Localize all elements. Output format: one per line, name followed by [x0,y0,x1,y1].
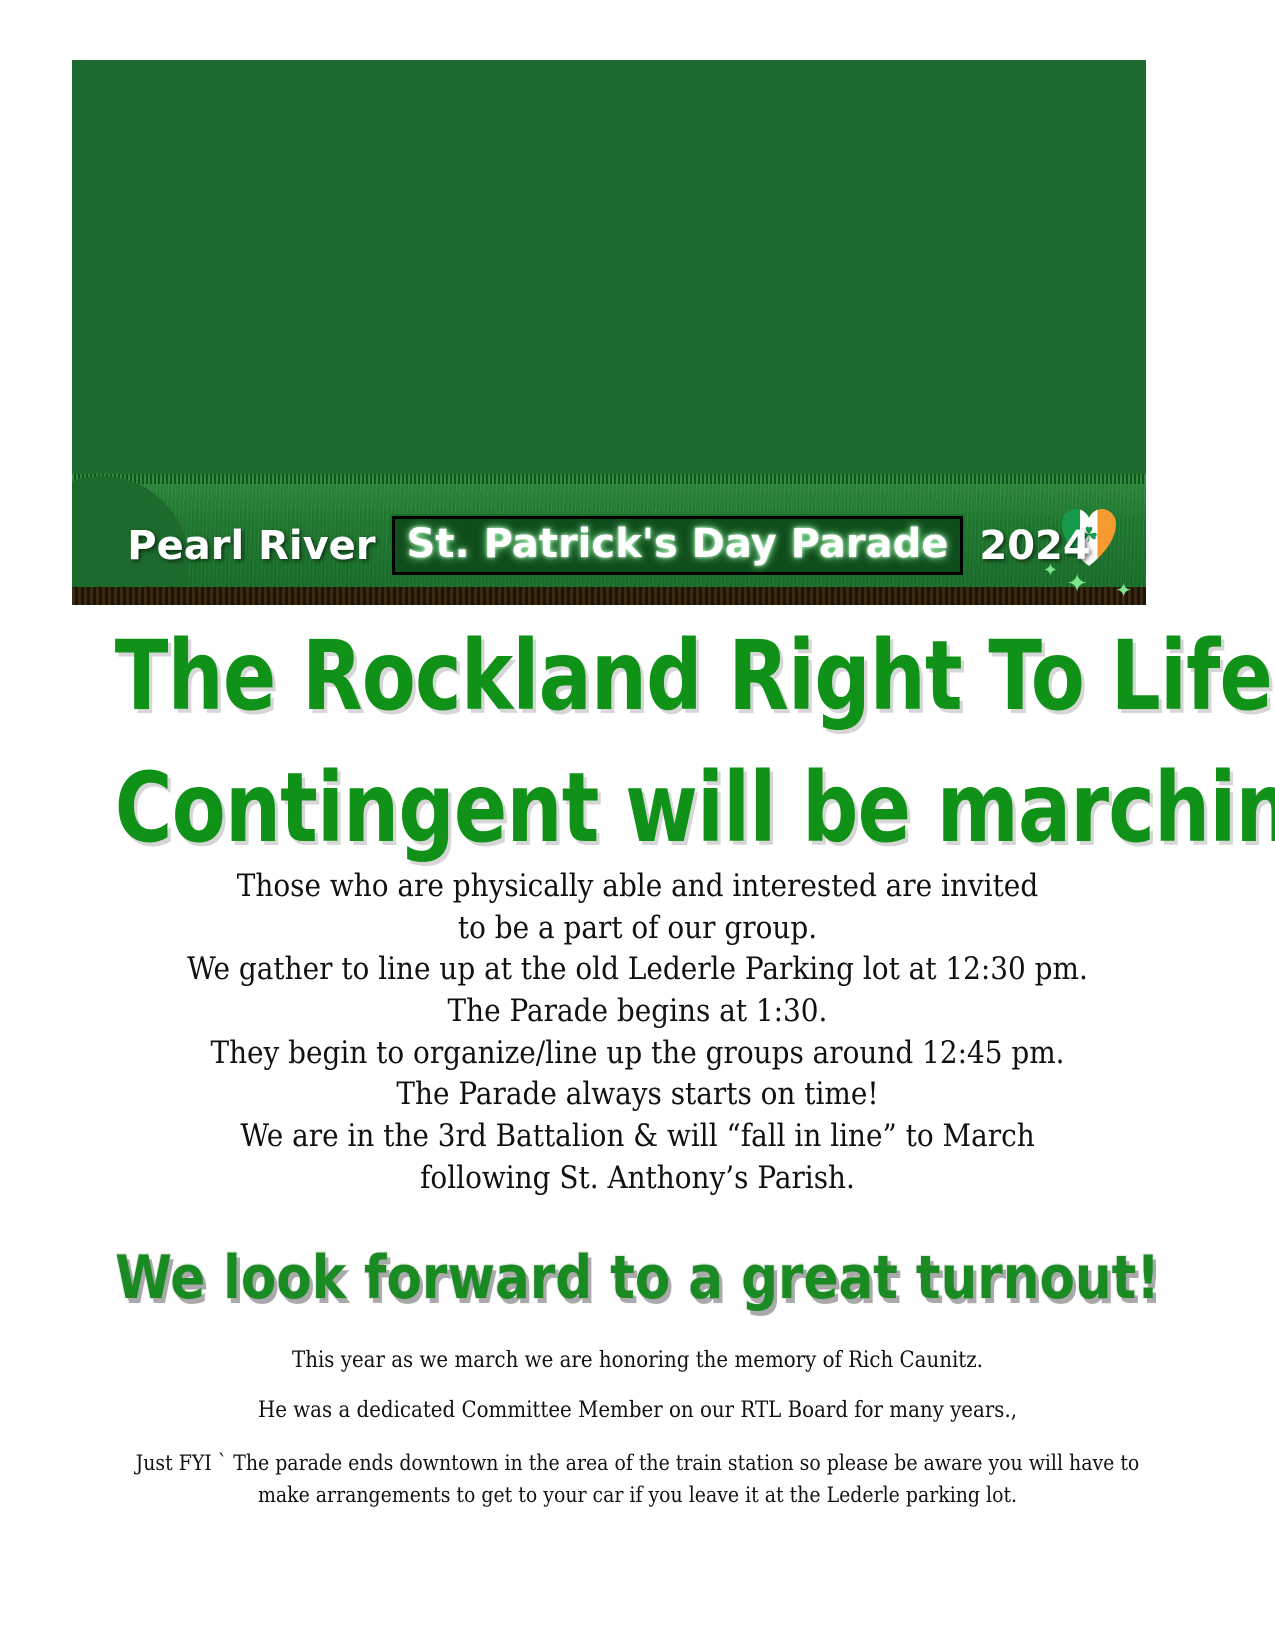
memorial-note-text: This year as we march we are honoring th… [64,1348,1212,1373]
leprechaun-icon: 🧝 [265,96,307,130]
main-headline-line-1: The Rockland Right To Life [115,620,1161,732]
logo-day-text: Day [211,119,248,141]
saint-patricks-day-logo: Saint Patrick's Day ☘ 🧝 [90,78,310,156]
green-grass-band: ☘ ☘ ☘ ☘ ☘ ✦ ✦ ✦ ☘ Pearl River St. Patric… [72,477,1146,605]
memorial-note-text: He was a dedicated Committee Member on o… [64,1398,1212,1423]
fyi-note: Just FYI ` The parade ends downtown in t… [0,1448,1275,1511]
body-line: Those who are physically able and intere… [64,866,1212,908]
grass-texture-top-edge [72,474,1146,484]
body-line: We gather to line up at the old Lederle … [64,949,1212,991]
parade-title-main: St. Patrick's Day Parade [407,521,949,567]
parade-title-row: Pearl River St. Patrick's Day Parade 202… [72,516,1146,575]
sparkle-icon: ✦ [1115,581,1132,601]
parade-title-box: St. Patrick's Day Parade [392,516,964,575]
soil-strip [72,587,1146,605]
body-line: to be a part of our group. [64,908,1212,950]
fyi-note-text: Just FYI ` The parade ends downtown in t… [129,1448,1147,1511]
body-line: We are in the 3rd Battalion & will “fall… [64,1116,1212,1158]
parade-title-year: 2024 [979,523,1090,569]
body-line: following St. Anthony’s Parish. [64,1158,1212,1200]
turnout-headline: We look forward to a great turnout! [89,1243,1186,1313]
parade-title-prefix: Pearl River [127,523,375,569]
parade-banner-image: Saint Patrick's Day ☘ 🧝 You are invited … [72,60,1146,605]
body-line: The Parade begins at 1:30. [64,991,1212,1033]
memorial-note-line-1: This year as we march we are honoring th… [0,1348,1275,1373]
body-paragraph: Those who are physically able and intere… [0,866,1275,1200]
main-headline-line-2: Contingent will be marching! [115,752,1161,864]
memorial-note-line-2: He was a dedicated Committee Member on o… [0,1398,1275,1423]
body-line: They begin to organize/line up the group… [64,1033,1212,1075]
bridge-deck [72,454,1146,466]
body-line: The Parade always starts on time! [64,1074,1212,1116]
